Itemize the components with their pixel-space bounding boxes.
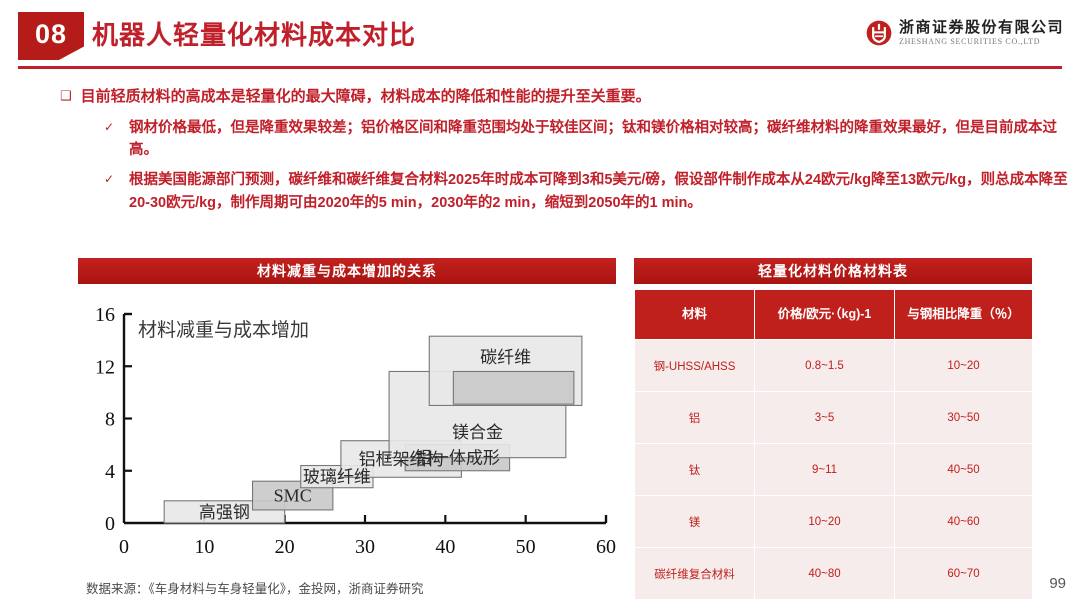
y-tick-label: 0 (105, 513, 115, 535)
y-tick-label: 8 (105, 409, 115, 431)
company-logo: 浙商证券股份有限公司 ZHESHANG SECURITIES CO.,LTD (866, 12, 1064, 54)
material-cell: 钢-UHSS/AHSS (635, 340, 755, 392)
price-cell: 9~11 (755, 444, 895, 496)
slide-header: 08 机器人轻量化材料成本对比 浙商证券股份有限公司 ZHESHANG SECU… (0, 0, 1080, 72)
x-tick-label: 10 (194, 536, 214, 558)
check-bullet-icon: ✓ (104, 117, 116, 137)
reduction-cell: 40~50 (895, 444, 1033, 496)
bullet-level1: ❑ 目前轻质材料的高成本是轻量化的最大障碍，材料成本的降低和性能的提升至关重要。 (60, 86, 1070, 109)
table-row: 镁10~2040~60 (635, 496, 1033, 548)
bullet-level2-1-text: 钢材价格最低，但是降重效果较差；铝价格区间和降重范围均处于较佳区间；钛和镁价格相… (129, 117, 1070, 162)
table-body: 钢-UHSS/AHSS0.8~1.510~20铝3~530~50钛9~1140~… (635, 340, 1033, 600)
chart-box (453, 371, 574, 404)
title-divider (18, 66, 1062, 69)
chart-box-label: 碳纤维 (480, 348, 531, 367)
table-row: 钛9~1140~50 (635, 444, 1033, 496)
material-cell: 钛 (635, 444, 755, 496)
chart-box-label: 铝一体成形 (415, 449, 500, 468)
chart-inner-title: 材料减重与成本增加 (138, 319, 309, 341)
chart-panel-heading: 材料减重与成本增加的关系 (78, 258, 616, 284)
x-tick-label: 30 (355, 536, 375, 558)
col-header-reduction: 与钢相比降重（％） (895, 290, 1033, 340)
price-cell: 10~20 (755, 496, 895, 548)
square-bullet-icon: ❑ (60, 86, 72, 106)
chart-box-label: 高强钢 (199, 503, 250, 522)
y-tick-label: 16 (95, 304, 115, 326)
table-row: 钢-UHSS/AHSS0.8~1.510~20 (635, 340, 1033, 392)
check-bullet-icon: ✓ (104, 169, 116, 189)
section-number-badge: 08 (18, 12, 84, 60)
chart-box-label: 镁合金 (452, 423, 503, 442)
page-number: 99 (1049, 575, 1066, 592)
col-header-material: 材料 (635, 290, 755, 340)
price-cell: 0.8~1.5 (755, 340, 895, 392)
reduction-cell: 30~50 (895, 392, 1033, 444)
price-cell: 40~80 (755, 548, 895, 600)
bullet-list: ❑ 目前轻质材料的高成本是轻量化的最大障碍，材料成本的降低和性能的提升至关重要。… (60, 86, 1070, 214)
reduction-cell: 10~20 (895, 340, 1033, 392)
chart-box-label: 玻璃纤维 (303, 468, 371, 487)
table-row: 碳纤维复合材料40~8060~70 (635, 548, 1033, 600)
bullet-level1-text: 目前轻质材料的高成本是轻量化的最大障碍，材料成本的降低和性能的提升至关重要。 (81, 86, 651, 109)
x-tick-label: 60 (596, 536, 616, 558)
reduction-cell: 40~60 (895, 496, 1033, 548)
bullet-level2-2-text: 根据美国能源部门预测，碳纤维和碳纤维复合材料2025年时成本可降到3和5美元/磅… (129, 169, 1070, 214)
material-weight-cost-chart: 04812160102030405060高强钢SMC玻璃纤维铝框架结构铝一体成形… (78, 300, 618, 575)
x-tick-label: 20 (275, 536, 295, 558)
chart-svg: 04812160102030405060高强钢SMC玻璃纤维铝框架结构铝一体成形… (78, 300, 618, 575)
material-cell: 镁 (635, 496, 755, 548)
chart-box-label: SMC (274, 486, 312, 506)
logo-company-name-en: ZHESHANG SECURITIES CO.,LTD (899, 38, 1064, 46)
logo-company-name-cn: 浙商证券股份有限公司 (899, 20, 1064, 35)
x-tick-label: 0 (119, 536, 129, 558)
price-cell: 3~5 (755, 392, 895, 444)
reduction-cell: 60~70 (895, 548, 1033, 600)
bullet-level2-1: ✓ 钢材价格最低，但是降重效果较差；铝价格区间和降重范围均处于较佳区间；钛和镁价… (104, 117, 1070, 162)
table-row: 铝3~530~50 (635, 392, 1033, 444)
material-cell: 碳纤维复合材料 (635, 548, 755, 600)
y-tick-label: 12 (95, 356, 115, 378)
page-title: 机器人轻量化材料成本对比 (92, 15, 416, 52)
lightweight-material-price-table: 材料 价格/欧元·（kg)-1 与钢相比降重（％） 钢-UHSS/AHSS0.8… (634, 289, 1033, 600)
x-tick-label: 40 (435, 536, 455, 558)
chart-source-note: 数据来源：《车身材料与车身轻量化》，金投网，浙商证券研究 (86, 578, 424, 597)
x-tick-label: 50 (516, 536, 536, 558)
bullet-level2-2: ✓ 根据美国能源部门预测，碳纤维和碳纤维复合材料2025年时成本可降到3和5美元… (104, 169, 1070, 214)
y-tick-label: 4 (105, 461, 115, 483)
material-cell: 铝 (635, 392, 755, 444)
logo-mark-icon (866, 20, 892, 46)
col-header-price: 价格/欧元·（kg)-1 (755, 290, 895, 340)
table-header-row: 材料 价格/欧元·（kg)-1 与钢相比降重（％） (635, 290, 1033, 340)
table-panel-heading: 轻量化材料价格材料表 (634, 258, 1032, 284)
